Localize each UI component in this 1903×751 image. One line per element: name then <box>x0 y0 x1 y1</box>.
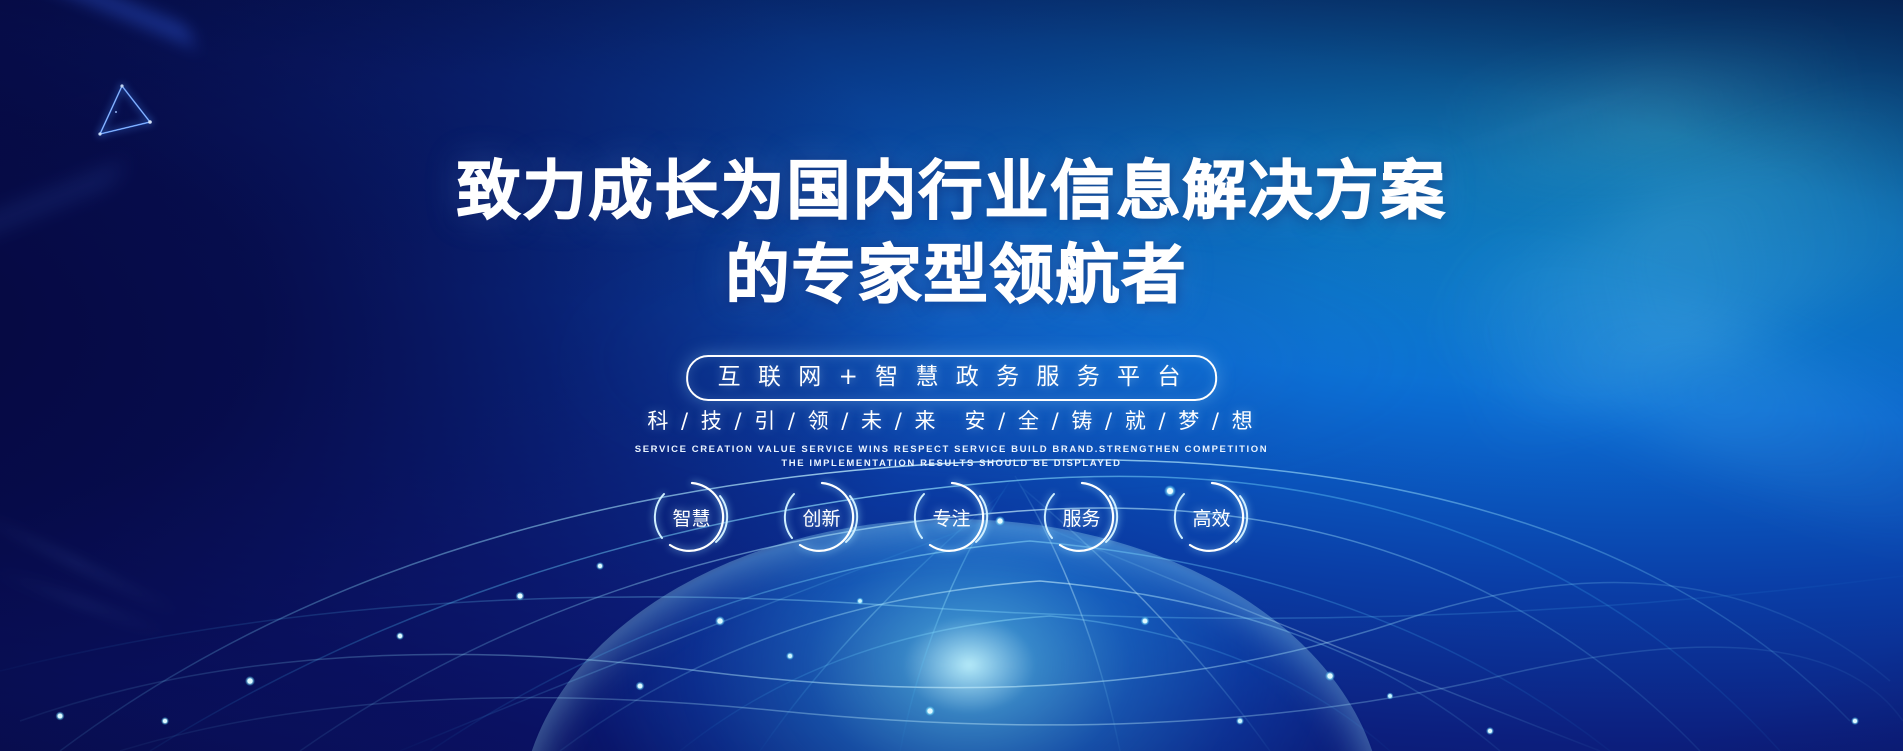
badge-item[interactable]: 创新 <box>788 482 856 552</box>
badge-item[interactable]: 高效 <box>1178 482 1246 552</box>
badge-label: 高效 <box>1192 504 1230 531</box>
headline-line-2: 的专家型领航者 <box>0 234 1903 318</box>
headline-line-1: 致力成长为国内行业信息解决方案 <box>0 150 1903 234</box>
tagline: 科 / 技 / 引 / 领 / 未 / 来安 / 全 / 铸 / 就 / 梦 /… <box>0 405 1903 435</box>
english-line-2: THE IMPLEMENTATION RESULTS SHOULD BE DIS… <box>0 457 1903 471</box>
badge-label: 创新 <box>802 504 840 531</box>
badge-item[interactable]: 服务 <box>1048 482 1116 552</box>
english-subtitle: SERVICE CREATION VALUE SERVICE WINS RESP… <box>0 443 1903 471</box>
badge-item[interactable]: 专注 <box>918 482 986 552</box>
platform-pill-label: 互 联 网 + 智 慧 政 务 服 务 平 台 <box>686 355 1218 401</box>
badge-label: 专注 <box>932 504 970 531</box>
tagline-right: 安 / 全 / 铸 / 就 / 梦 / 想 <box>965 409 1256 433</box>
badge-label: 智慧 <box>672 504 710 531</box>
tagline-left: 科 / 技 / 引 / 领 / 未 / 来 <box>647 409 938 433</box>
badge-label: 服务 <box>1062 504 1100 531</box>
banner-content: 致力成长为国内行业信息解决方案 的专家型领航者 互 联 网 + 智 慧 政 务 … <box>0 0 1903 751</box>
page-title: 致力成长为国内行业信息解决方案 的专家型领航者 <box>0 150 1903 318</box>
feature-badges: 智慧 创新 专注 <box>0 482 1903 552</box>
english-line-1: SERVICE CREATION VALUE SERVICE WINS RESP… <box>0 443 1903 457</box>
hero-banner: 致力成长为国内行业信息解决方案 的专家型领航者 互 联 网 + 智 慧 政 务 … <box>0 0 1903 751</box>
badge-item[interactable]: 智慧 <box>658 482 726 552</box>
